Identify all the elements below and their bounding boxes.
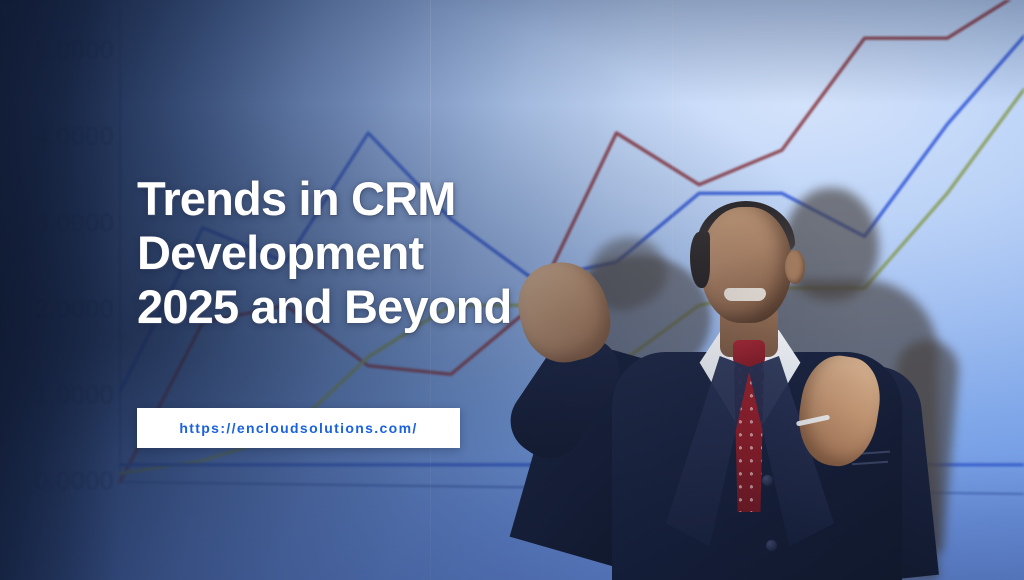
website-url-badge[interactable]: https://encloudsolutions.com/ (137, 408, 460, 448)
page-title: Trends in CRM Development 2025 and Beyon… (137, 172, 657, 334)
crm-blog-banner: 5.00004.00003.00002.00001.00000.0000 (0, 0, 1024, 580)
website-url-text: https://encloudsolutions.com/ (179, 420, 417, 436)
